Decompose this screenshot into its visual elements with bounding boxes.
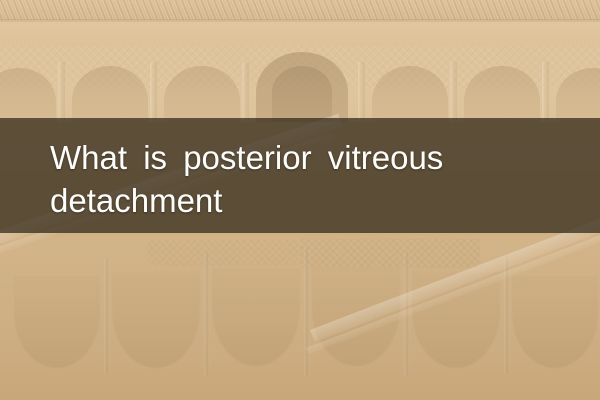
arcade-arch (464, 66, 540, 122)
reflected-pier (204, 252, 210, 376)
arcade-arch (372, 66, 448, 122)
arcade-pier (450, 62, 457, 122)
caption-title: What is posterior vitreous detachment (50, 136, 570, 222)
arcade-arch (0, 68, 56, 122)
arcade-pier (358, 62, 365, 122)
reflected-latticework (148, 240, 298, 266)
reflected-pier (304, 248, 310, 376)
arcade-pier (150, 62, 157, 122)
upper-wall-band (0, 22, 600, 46)
arcade-arch (556, 68, 600, 122)
arcade-pier (58, 62, 65, 122)
arcade-arch (72, 66, 148, 122)
arcade-arch (164, 66, 240, 122)
screenshot-canvas: What is posterior vitreous detachment (0, 0, 600, 400)
reflected-latticework (300, 238, 480, 268)
arcade-pier (542, 62, 549, 122)
arcade-pier (242, 62, 249, 122)
carved-dentil-cornice (0, 0, 600, 20)
reflected-pier (104, 258, 110, 374)
